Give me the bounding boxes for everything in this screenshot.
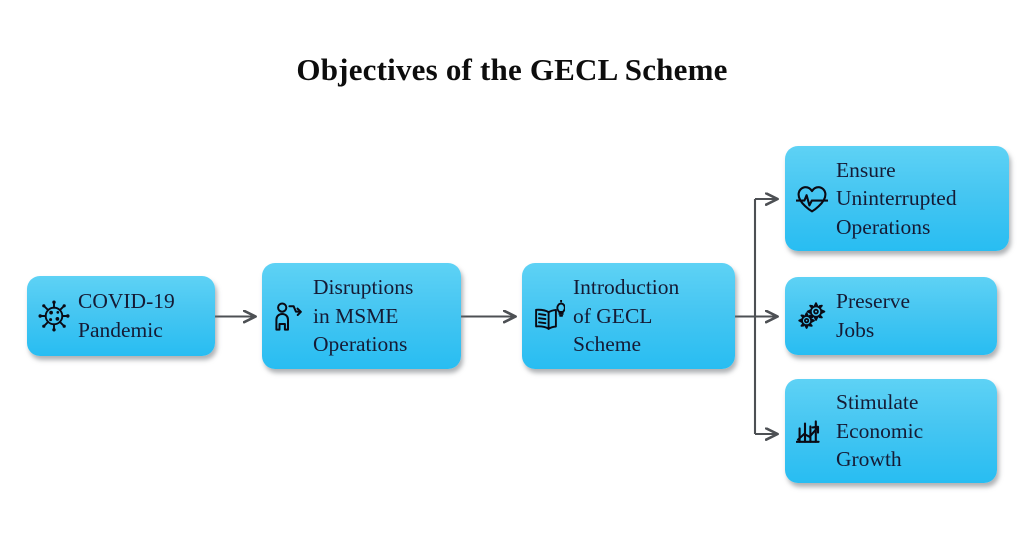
node-label: Introduction of GECL Scheme	[573, 273, 727, 359]
node-preserve-jobs[interactable]: Preserve Jobs	[785, 277, 997, 355]
node-disruptions-in-msme-operations[interactable]: Disruptions in MSME Operations	[262, 263, 461, 369]
virus-icon	[37, 299, 71, 333]
book-lightbulb-icon	[532, 299, 566, 333]
node-stimulate-economic-growth[interactable]: Stimulate Economic Growth	[785, 379, 997, 483]
node-label: Stimulate Economic Growth	[836, 388, 989, 474]
node-covid-19-pandemic[interactable]: COVID-19 Pandemic	[27, 276, 215, 356]
node-label: Preserve Jobs	[836, 287, 989, 344]
node-label: Disruptions in MSME Operations	[313, 273, 453, 359]
node-introduction-of-gecl-scheme[interactable]: Introduction of GECL Scheme	[522, 263, 735, 369]
person-decline-arrow-icon	[272, 299, 306, 333]
page-title: Objectives of the GECL Scheme	[0, 52, 1024, 88]
gears-icon	[795, 299, 829, 333]
node-label: Ensure Uninterrupted Operations	[836, 156, 1001, 242]
heart-pulse-icon	[795, 182, 829, 216]
diagram-canvas: Objectives of the GECL Scheme	[0, 0, 1024, 538]
bar-chart-growth-icon	[795, 414, 829, 448]
node-label: COVID-19 Pandemic	[78, 287, 207, 344]
node-ensure-uninterrupted-operations[interactable]: Ensure Uninterrupted Operations	[785, 146, 1009, 251]
